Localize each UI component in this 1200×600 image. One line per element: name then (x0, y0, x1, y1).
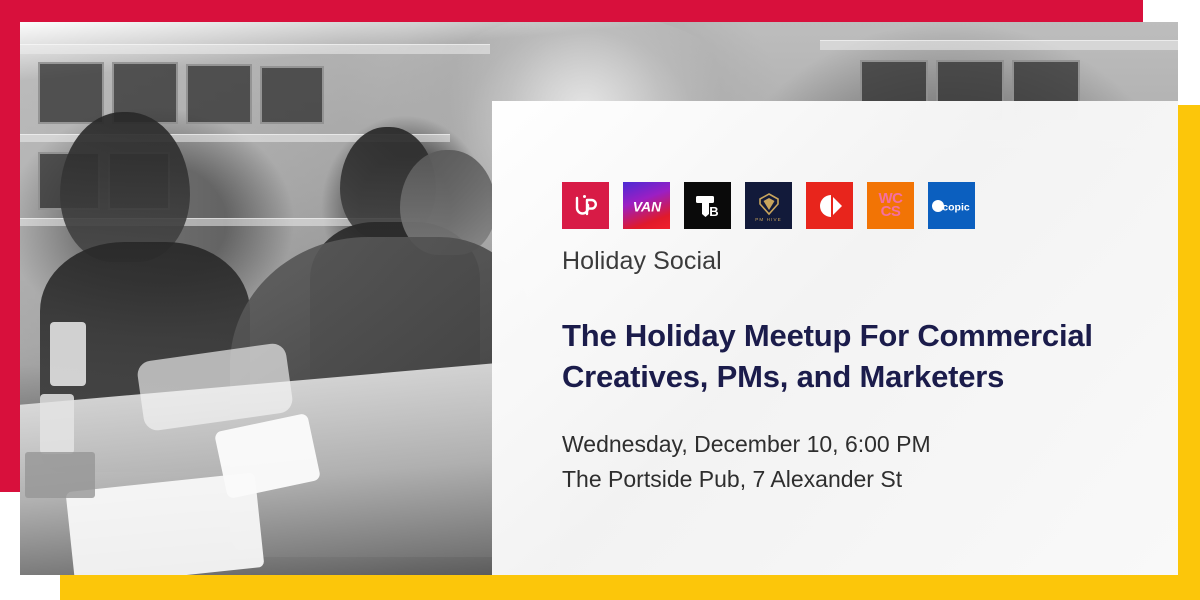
van-logo[interactable]: VAN (623, 182, 670, 229)
decorative-red-left-bar (0, 0, 20, 492)
tb-logo[interactable]: B (684, 182, 731, 229)
table-object-can (50, 322, 86, 386)
decorative-yellow-right-bar (1178, 105, 1200, 600)
up-logo[interactable] (562, 182, 609, 229)
event-details: Wednesday, December 10, 6:00 PM The Port… (562, 427, 1162, 497)
shelf-product (186, 64, 252, 124)
event-subtitle: Holiday Social (562, 247, 722, 276)
shelf-product (260, 66, 324, 124)
svg-text:copic: copic (942, 201, 970, 213)
pm-hive-logo[interactable]: PM HIVE (745, 182, 792, 229)
event-datetime: Wednesday, December 10, 6:00 PM (562, 427, 1162, 462)
decorative-yellow-bottom-bar (60, 575, 1200, 600)
sponsor-logo-row: VAN B PM HIVE (562, 182, 975, 229)
shelf-band (20, 44, 490, 54)
svg-text:VAN: VAN (632, 198, 661, 214)
event-banner: VAN B PM HIVE (0, 0, 1200, 600)
decorative-red-top-bar (0, 0, 1143, 22)
copic-logo[interactable]: copic (928, 182, 975, 229)
c-logo[interactable] (806, 182, 853, 229)
table-object-block (25, 452, 95, 498)
table-object-can (40, 394, 74, 454)
event-venue: The Portside Pub, 7 Alexander St (562, 462, 1162, 497)
person-figure (60, 112, 190, 262)
wccs-logo[interactable]: WC CS (867, 182, 914, 229)
svg-text:B: B (709, 204, 718, 219)
content-panel: VAN B PM HIVE (492, 101, 1178, 575)
event-headline: The Holiday Meetup For Commercial Creati… (562, 315, 1162, 397)
shelf-band (820, 40, 1178, 50)
headline-line-1: The Holiday Meetup For Commercial (562, 315, 1162, 356)
headline-line-2: Creatives, PMs, and Marketers (562, 356, 1162, 397)
shelf-product (38, 62, 104, 124)
